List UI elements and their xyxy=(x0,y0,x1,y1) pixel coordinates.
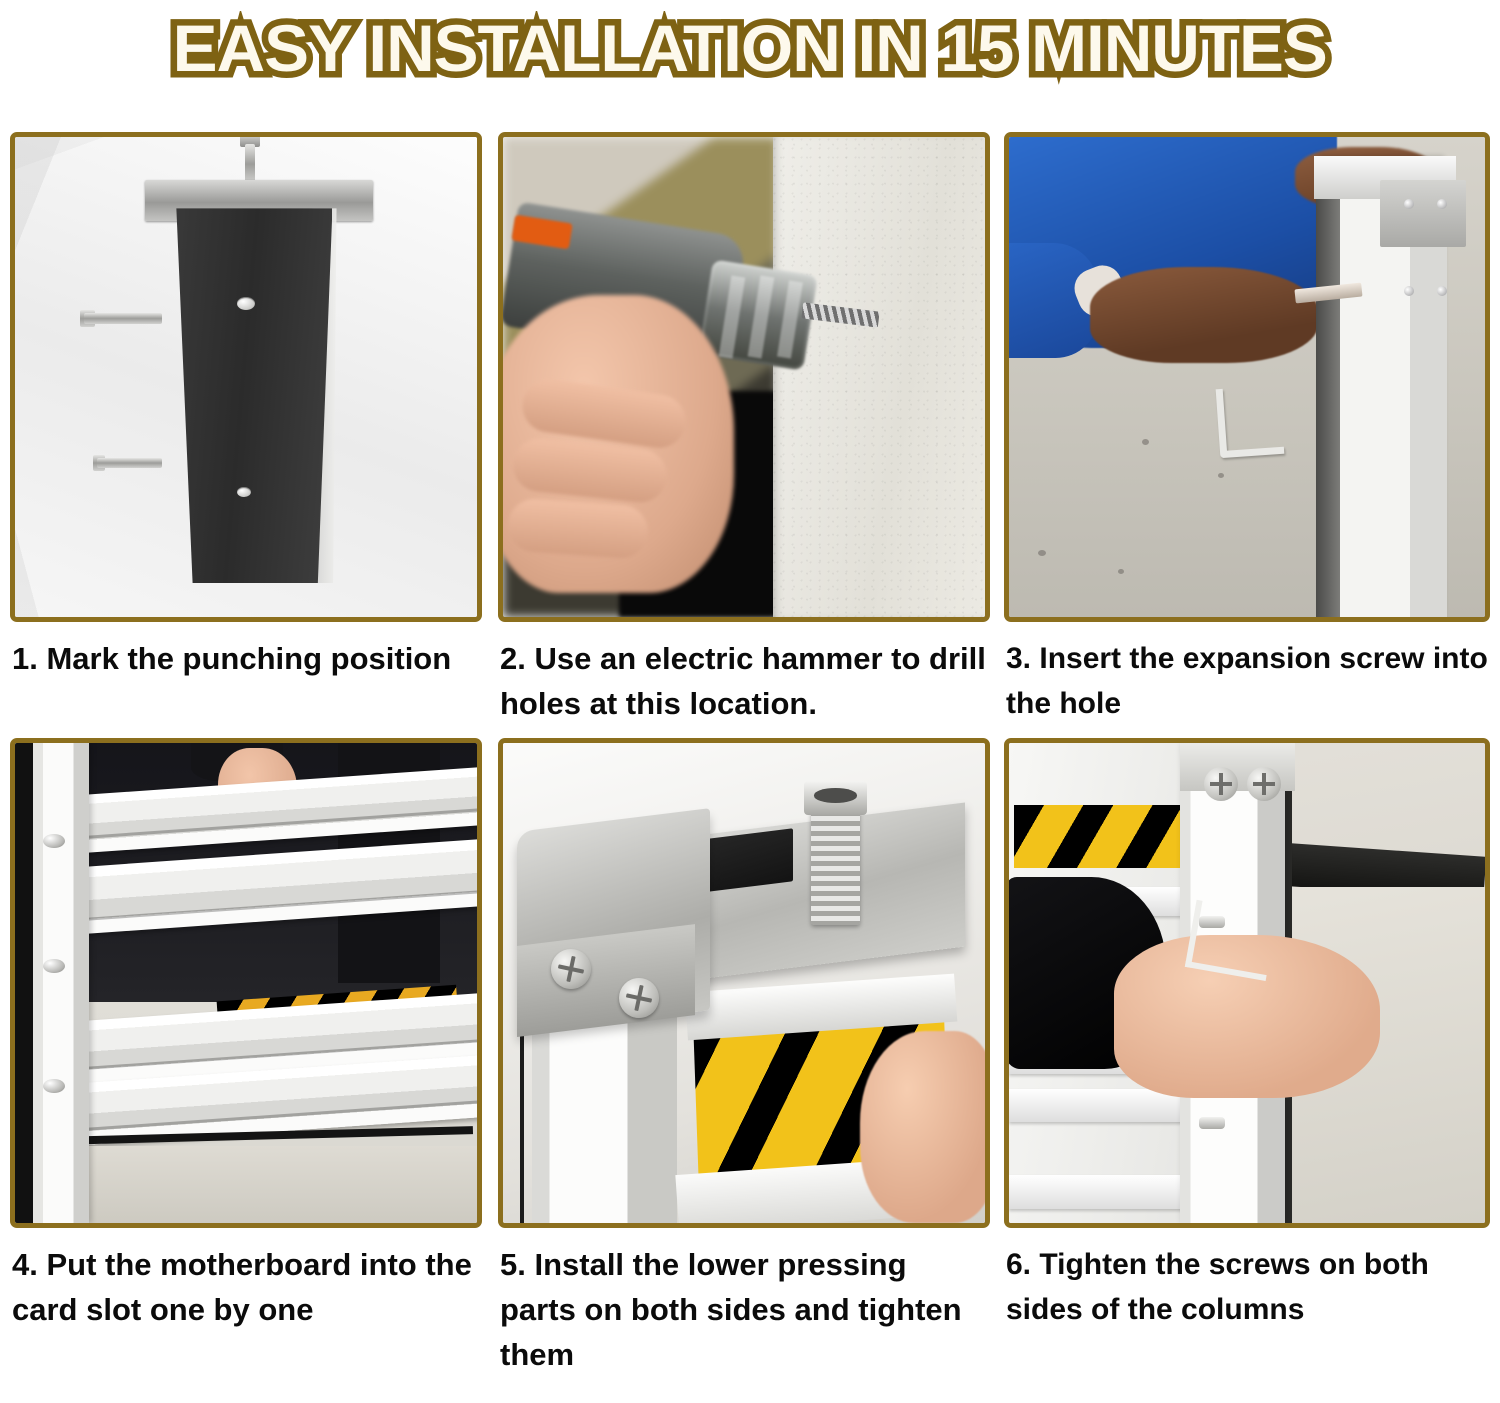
white-column-with-slots xyxy=(33,743,88,1223)
column-dark-slot xyxy=(1316,190,1340,617)
step-caption-5: 5. Install the lower pressing parts on b… xyxy=(500,1242,988,1377)
mounting-plate xyxy=(1380,180,1466,247)
column-bolt-2 xyxy=(43,959,65,973)
column-screw-middle xyxy=(1199,916,1225,928)
scene-worker-expansion-screw xyxy=(1009,137,1485,617)
step-image-6 xyxy=(1004,738,1490,1228)
step-caption-2: 2. Use an electric hammer to drill holes… xyxy=(500,636,988,726)
hazard-tape-panel xyxy=(1014,805,1185,867)
marking-hole-lower xyxy=(237,487,251,497)
worker-forearm-hand xyxy=(1090,267,1318,363)
plate-screw-3 xyxy=(1404,286,1414,296)
step-card-2: 2. Use an electric hammer to drill holes… xyxy=(492,132,998,726)
scene-post-on-white-cloth xyxy=(15,137,477,617)
step-image-3 xyxy=(1004,132,1490,622)
step-image-1 xyxy=(10,132,482,622)
step-card-6: 6. Tighten the screws on both sides of t… xyxy=(998,726,1500,1377)
scene-pressing-bracket-closeup xyxy=(503,743,985,1223)
allen-key-on-floor xyxy=(1216,384,1285,458)
page-title: EASY INSTALLATION IN 15 MINUTES xyxy=(173,15,1327,81)
middle-bolt xyxy=(84,313,161,323)
step-image-4 xyxy=(10,738,482,1228)
column-screw-top-left xyxy=(1204,767,1238,801)
scene-rails-into-card-slot xyxy=(15,743,477,1223)
column-bolt-1 xyxy=(43,834,65,848)
step-card-5: 5. Install the lower pressing parts on b… xyxy=(492,726,998,1377)
top-stud xyxy=(245,144,255,184)
finger-holding-part xyxy=(860,1031,985,1223)
post-body xyxy=(170,208,333,583)
scene-tighten-column-screws xyxy=(1009,743,1485,1223)
step-caption-6: 6. Tighten the screws on both sides of t… xyxy=(1006,1242,1488,1332)
column-post xyxy=(154,180,357,583)
step-caption-4: 4. Put the motherboard into the card slo… xyxy=(12,1242,480,1332)
marking-hole-upper xyxy=(237,297,255,310)
column-screw-top-right xyxy=(1247,767,1281,801)
panel-rail-4 xyxy=(1009,1175,1190,1209)
step-card-1: 1. Mark the punching position xyxy=(0,132,492,726)
step-card-3: 3. Insert the expansion screw into the h… xyxy=(998,132,1500,726)
step-image-2 xyxy=(498,132,990,622)
finger-3 xyxy=(506,497,649,559)
column-bolt-3 xyxy=(43,1079,65,1093)
title-banner: EASY INSTALLATION IN 15 MINUTES xyxy=(0,0,1500,96)
scene-drill-into-wall xyxy=(503,137,985,617)
lower-bolt xyxy=(97,458,162,468)
step-card-4: 4. Put the motherboard into the card slo… xyxy=(0,726,492,1377)
step-image-5 xyxy=(498,738,990,1228)
column-screw-lower xyxy=(1199,1117,1225,1129)
installation-steps-grid: 1. Mark the punching position 2. Use xyxy=(0,132,1500,1377)
allen-key xyxy=(1185,900,1278,982)
pressing-bolt-shaft xyxy=(811,796,859,926)
floor-speck-3 xyxy=(1038,550,1046,556)
bolt-socket-hole xyxy=(814,788,857,802)
textured-white-wall xyxy=(773,137,985,617)
step-caption-1: 1. Mark the punching position xyxy=(12,636,480,681)
step-caption-3: 3. Insert the expansion screw into the h… xyxy=(1006,636,1488,726)
bracket-screw-2 xyxy=(619,978,659,1018)
